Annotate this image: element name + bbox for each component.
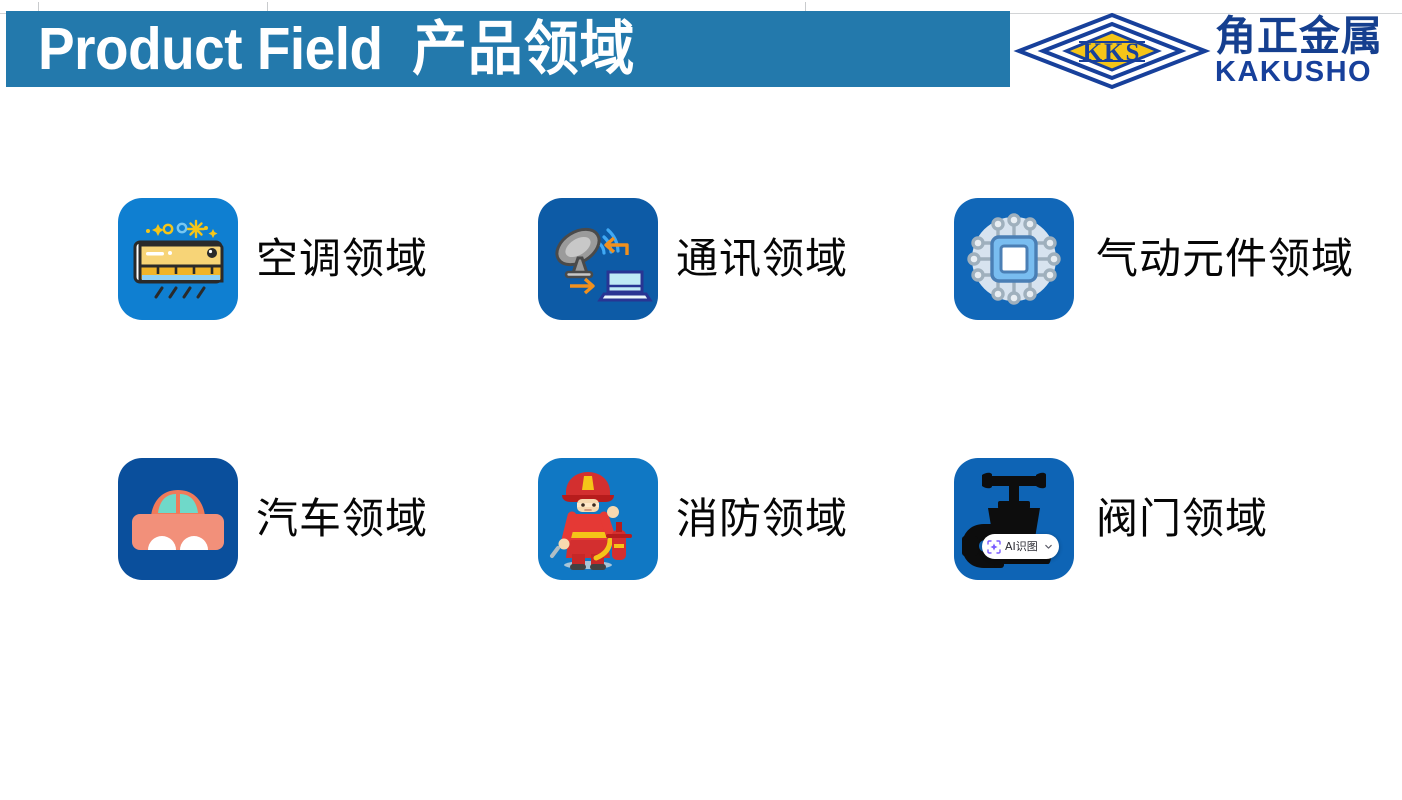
field-label-air-conditioning: 空调领域: [256, 236, 428, 282]
field-item-automotive[interactable]: 汽车领域: [118, 458, 428, 580]
microchip-icon: [954, 198, 1074, 320]
ai-recognition-badge[interactable]: AI识图: [982, 534, 1059, 559]
field-item-fire-fighting[interactable]: 消防领域: [538, 458, 848, 580]
company-logo: KKS 角正金属 KAKUSHO: [1013, 10, 1395, 92]
ai-badge-label: AI识图: [1005, 541, 1038, 553]
tile-air-conditioning: [118, 198, 238, 320]
header-band: Product Field 产品领域: [6, 11, 1010, 87]
kks-diamond-icon: KKS: [1013, 11, 1211, 91]
field-item-pneumatic-parts[interactable]: 气动元件领域: [954, 198, 1354, 320]
field-label-fire-fighting: 消防领域: [676, 496, 848, 542]
ai-scan-icon: [987, 540, 1001, 554]
field-item-communication[interactable]: 通讯领域: [538, 198, 848, 320]
logo-name-latin: KAKUSHO: [1215, 57, 1383, 87]
logo-wordmark: 角正金属 KAKUSHO: [1215, 15, 1383, 87]
air-conditioner-icon: [118, 198, 238, 320]
valve-icon: [954, 458, 1074, 580]
page-title-en: Product Field: [38, 16, 383, 82]
page-title-cjk: 产品领域: [412, 14, 635, 83]
car-icon: [118, 458, 238, 580]
field-item-air-conditioning[interactable]: 空调领域: [118, 198, 428, 320]
field-item-valves[interactable]: 阀门领域: [954, 458, 1268, 580]
satellite-dish-icon: [538, 198, 658, 320]
logo-name-cjk: 角正金属: [1215, 15, 1383, 57]
field-row-1: 空调领域: [0, 198, 1402, 458]
tile-communication: [538, 198, 658, 320]
field-label-pneumatic-parts: 气动元件领域: [1096, 236, 1354, 282]
tile-pneumatic-parts: [954, 198, 1074, 320]
chevron-down-icon[interactable]: [1044, 542, 1053, 551]
field-label-automotive: 汽车领域: [256, 496, 428, 542]
firefighter-icon: [538, 458, 658, 580]
tile-fire-fighting: [538, 458, 658, 580]
tile-valves: [954, 458, 1074, 580]
product-field-grid: 空调领域: [0, 198, 1402, 718]
tile-automotive: [118, 458, 238, 580]
field-label-communication: 通讯领域: [676, 236, 848, 282]
page-title: Product Field 产品领域: [38, 18, 635, 80]
field-label-valves: 阀门领域: [1096, 496, 1268, 542]
field-row-2: 汽车领域: [0, 458, 1402, 718]
